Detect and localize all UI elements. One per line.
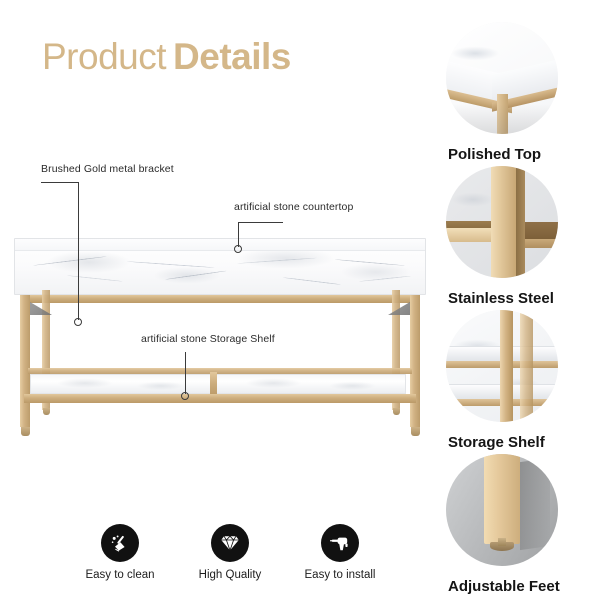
- feature-badges-row: Easy to clean High Quality: [70, 524, 390, 594]
- circle-shadow: [446, 104, 558, 134]
- feature-easy-to-install[interactable]: Easy to install: [290, 524, 390, 594]
- shelf-post-back: [520, 310, 533, 422]
- feature-high-quality[interactable]: High Quality: [180, 524, 280, 594]
- product-illustration: [0, 150, 440, 490]
- detail-item-storage-shelf[interactable]: Storage Shelf: [432, 310, 600, 450]
- callout-label-shelf: artificial stone Storage Shelf: [141, 333, 275, 345]
- leader-line-bracket-vertical: [78, 182, 79, 320]
- adjustable-foot-screw: [498, 538, 506, 546]
- marble-vein: [33, 256, 107, 266]
- leader-dot-countertop: [234, 245, 242, 253]
- detail-item-stainless-steel[interactable]: Stainless Steel: [432, 166, 600, 306]
- marble-vein: [67, 275, 123, 282]
- frame-rail-top: [20, 295, 420, 303]
- leader-line-countertop-horizontal: [238, 222, 283, 223]
- leader-dot-bracket: [74, 318, 82, 326]
- shelf-panel-right: [216, 374, 406, 394]
- detail-caption-adjustable-feet: Adjustable Feet: [448, 578, 560, 595]
- marble-vein: [335, 259, 405, 266]
- feature-easy-to-clean[interactable]: Easy to clean: [70, 524, 170, 594]
- drill-icon: [321, 524, 359, 562]
- feature-label-easy-to-install: Easy to install: [305, 569, 376, 581]
- detail-shots-column: Polished Top Stainless Steel: [432, 22, 600, 582]
- detail-item-polished-top[interactable]: Polished Top: [432, 22, 600, 162]
- broom-icon: [101, 524, 139, 562]
- leg-cast-shadow: [520, 458, 550, 550]
- page-title-light: Product: [42, 36, 166, 77]
- shelf-front-rail: [24, 394, 416, 403]
- page-title-bold: Details: [173, 36, 291, 77]
- gold-leg: [484, 454, 520, 544]
- adjustable-foot-left: [21, 427, 30, 436]
- detail-image-polished-top: [446, 22, 558, 134]
- marble-vein: [359, 276, 411, 282]
- adjustable-foot-back-right: [393, 408, 400, 415]
- marble-vein: [237, 257, 317, 264]
- detail-caption-storage-shelf: Storage Shelf: [448, 434, 545, 451]
- diamond-icon: [211, 524, 249, 562]
- leader-line-bracket-horizontal: [41, 182, 78, 183]
- leader-line-countertop-vertical: [238, 222, 239, 247]
- detail-caption-polished-top: Polished Top: [448, 146, 541, 163]
- detail-image-stainless-steel: [446, 166, 558, 278]
- shelf-divider: [210, 372, 217, 396]
- marble-vein: [283, 277, 341, 285]
- adjustable-foot-right: [411, 427, 420, 436]
- frame-leg-front-right: [410, 295, 420, 427]
- vertical-post-shadow: [516, 166, 525, 278]
- frame-leg-front-left: [20, 295, 30, 427]
- countertop-slab: [14, 238, 426, 295]
- infographic-page: ProductDetails: [0, 0, 600, 600]
- feature-label-high-quality: High Quality: [199, 569, 262, 581]
- callout-label-bracket: Brushed Gold metal bracket: [41, 163, 174, 175]
- detail-image-storage-shelf: [446, 310, 558, 422]
- vertical-post: [491, 166, 516, 278]
- leader-line-shelf-vertical: [185, 352, 186, 394]
- countertop-top-face: [15, 239, 425, 251]
- marble-vein: [127, 261, 215, 268]
- detail-item-adjustable-feet[interactable]: Adjustable Feet: [432, 454, 600, 594]
- feature-label-easy-to-clean: Easy to clean: [85, 569, 154, 581]
- detail-image-adjustable-feet: [446, 454, 558, 566]
- leader-dot-shelf: [181, 392, 189, 400]
- callout-label-countertop: artificial stone countertop: [234, 201, 353, 213]
- adjustable-foot-back-left: [43, 408, 50, 415]
- marble-vein: [165, 270, 227, 280]
- page-title: ProductDetails: [42, 36, 291, 78]
- detail-caption-stainless-steel: Stainless Steel: [448, 290, 554, 307]
- shelf-post-front: [500, 310, 513, 422]
- horizontal-rail-left: [446, 228, 494, 242]
